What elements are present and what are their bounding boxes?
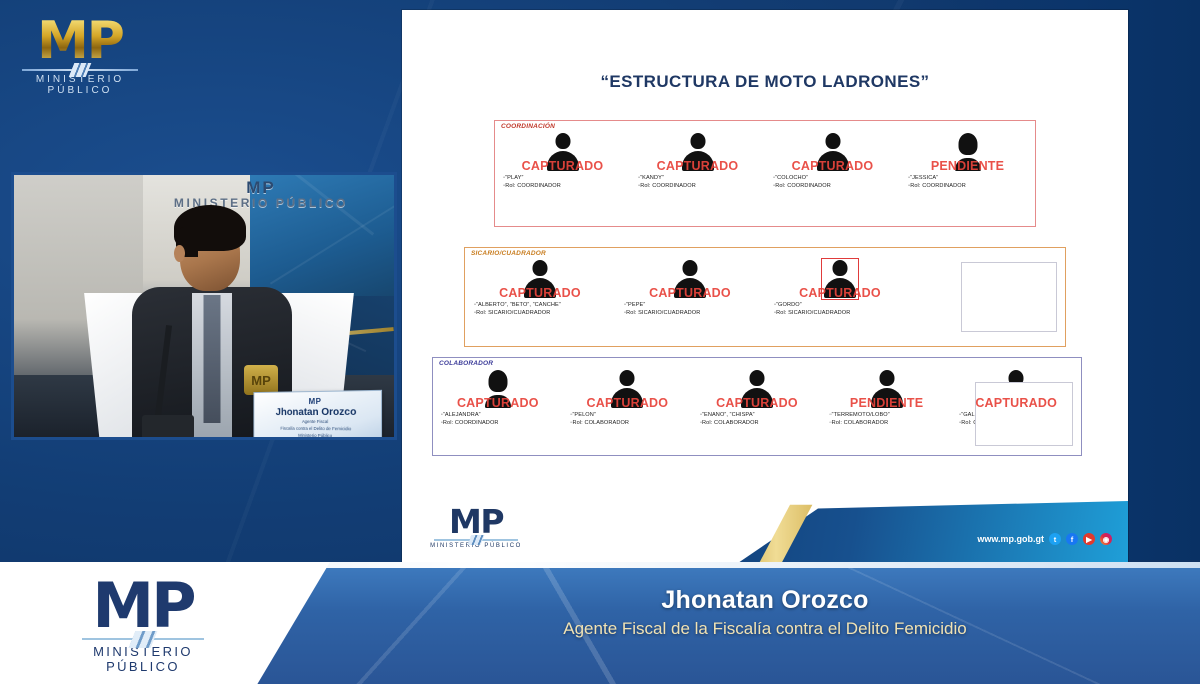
org-node: CAPTURADO “GORDO” Rol: SICARIO/CUADRADOR (765, 260, 915, 344)
nameplate-mp-logo: MP (309, 397, 322, 406)
org-node: CAPTURADO “COLOCHO” Rol: COORDINADOR (765, 133, 900, 224)
nameplate-role-line1: Agente Fiscal (302, 419, 328, 425)
nameplate-role-line2: Fiscalía contra el Delito de Femicidio (280, 426, 351, 432)
node-role: Rol: SICARIO/CUADRADOR (474, 309, 561, 317)
node-meta: “GORDO” Rol: SICARIO/CUADRADOR (774, 301, 850, 318)
section-sicario-cuadrador: SICARIO/CUADRADOR CAPTURADO “ALBERTO”, “… (464, 247, 1066, 347)
desk-nameplate: MP Jhonatan Orozco Agente Fiscal Fiscalí… (253, 390, 382, 440)
mp-logo-subtitle: MINISTERIO PÚBLICO (12, 74, 148, 96)
speaker-vest-mp-badge (244, 365, 278, 395)
speaker-hair (174, 205, 246, 251)
org-node: CAPTURADO “ALEJANDRA” Rol: COORDINADOR (433, 370, 563, 453)
nameplate-name: Jhonatan Orozco (276, 407, 357, 418)
node-meta: “PLAY” Rol: COORDINADOR (503, 174, 561, 191)
node-meta: “ALEJANDRA” Rol: COORDINADOR (441, 411, 499, 428)
org-node: CAPTURADO “PLAY” Rol: COORDINADOR (495, 133, 630, 224)
node-role: Rol: COLABORADOR (700, 419, 759, 427)
node-meta: “PELON” Rol: COLABORADOR (570, 411, 629, 428)
backdrop-wall-logo-letters: MP (158, 179, 363, 196)
banner-logo-letters: MP (68, 578, 218, 634)
status-stamp: CAPTURADO (716, 396, 798, 410)
node-meta: “ALBERTO”, “BETO”, “CANCHE” Rol: SICARIO… (474, 301, 561, 318)
node-alias: “TERREMOTO/LOBO” (830, 411, 890, 419)
status-stamp: CAPTURADO (792, 159, 874, 173)
slide-footer-mp-logo: MP MINISTERIO PÚBLICO (426, 507, 526, 549)
node-alias: “ENANO”, “CHISPA” (700, 411, 759, 419)
status-stamp: CAPTURADO (587, 396, 669, 410)
status-stamp: CAPTURADO (975, 396, 1057, 410)
node-alias: “ALBERTO”, “BETO”, “CANCHE” (474, 301, 561, 309)
node-role: Rol: SICARIO/CUADRADOR (624, 309, 700, 317)
banner-mp-logo: MP MINISTERIO PÚBLICO (68, 578, 218, 674)
node-alias: “PLAY” (503, 174, 561, 182)
footer-website-and-social: www.mp.gob.gt t f ▶ ◉ (977, 533, 1112, 545)
node-role: Rol: COLABORADOR (570, 419, 629, 427)
twitter-icon[interactable]: t (1049, 533, 1061, 545)
mp-logo-top: MP MINISTERIO PÚBLICO (12, 18, 148, 96)
backdrop-wall-logo: MP MINISTERIO PÚBLICO (158, 179, 363, 210)
status-stamp: PENDIENTE (850, 396, 923, 410)
org-node: CAPTURADO “PEPE” Rol: SICARIO/CUADRADOR (615, 260, 765, 344)
org-node: CAPTURADO “PELON” Rol: COLABORADOR (563, 370, 693, 453)
status-stamp: CAPTURADO (649, 286, 731, 300)
node-role: Rol: COORDINADOR (503, 182, 561, 190)
node-meta: “ENANO”, “CHISPA” Rol: COLABORADOR (700, 411, 759, 428)
instagram-icon[interactable]: ◉ (1100, 533, 1112, 545)
status-stamp: CAPTURADO (657, 159, 739, 173)
node-meta: “TERREMOTO/LOBO” Rol: COLABORADOR (830, 411, 890, 428)
youtube-icon[interactable]: ▶ (1083, 533, 1095, 545)
node-role: Rol: COORDINADOR (638, 182, 696, 190)
speaker-ear (174, 245, 185, 262)
org-node: CAPTURADO “ENANO”, “CHISPA” Rol: COLABOR… (692, 370, 822, 453)
node-alias: “PELON” (570, 411, 629, 419)
node-meta: “COLOCHO” Rol: COORDINADOR (773, 174, 831, 191)
node-meta: “PEPE” Rol: SICARIO/CUADRADOR (624, 301, 700, 318)
node-alias: “GORDO” (774, 301, 850, 309)
empty-placeholder-box (975, 382, 1073, 446)
status-stamp: CAPTURADO (457, 396, 539, 410)
org-node: PENDIENTE “TERREMOTO/LOBO” Rol: COLABORA… (822, 370, 952, 453)
microphone-base (142, 415, 194, 439)
node-role: Rol: COORDINADOR (441, 419, 499, 427)
node-meta: “JESSICA” Rol: COORDINADOR (908, 174, 966, 191)
node-alias: “KANDY” (638, 174, 696, 182)
footer-logo-divider (434, 539, 518, 541)
speaker-name: Jhonatan Orozco (330, 586, 1200, 615)
status-stamp: CAPTURADO (799, 286, 881, 300)
section-coordinacion: COORDINACIÓN CAPTURADO “PLAY” Rol: COORD… (494, 120, 1036, 227)
node-role: Rol: COORDINADOR (908, 182, 966, 190)
nameplate-role-line3: Ministerio Público (298, 433, 332, 439)
org-node: CAPTURADO “KANDY” Rol: COORDINADOR (630, 133, 765, 224)
video-feed: MP MINISTERIO PÚBLICO MP Jhonatan Orozco… (11, 172, 397, 440)
lower-third-banner: MP MINISTERIO PÚBLICO Jhonatan Orozco Ag… (0, 562, 1200, 684)
node-alias: “ALEJANDRA” (441, 411, 499, 419)
mp-logo-divider (22, 69, 138, 71)
presentation-slide: “ESTRUCTURA DE MOTO LADRONES” COORDINACI… (402, 10, 1128, 563)
facebook-icon[interactable]: f (1066, 533, 1078, 545)
empty-placeholder-box (961, 262, 1057, 332)
speaker-role: Agente Fiscal de la Fiscalía contra el D… (330, 619, 1200, 639)
node-alias: “JESSICA” (908, 174, 966, 182)
slide-title: “ESTRUCTURA DE MOTO LADRONES” (402, 72, 1128, 92)
org-node: PENDIENTE “JESSICA” Rol: COORDINADOR (900, 133, 1035, 224)
status-stamp: CAPTURADO (522, 159, 604, 173)
website-url: www.mp.gob.gt (977, 534, 1044, 544)
banner-logo-subtitle: MINISTERIO PÚBLICO (68, 644, 218, 674)
speaker-tie (204, 295, 221, 423)
node-meta: “KANDY” Rol: COORDINADOR (638, 174, 696, 191)
banner-logo-divider (82, 638, 204, 641)
node-role: Rol: SICARIO/CUADRADOR (774, 309, 850, 317)
section-colaborador: COLABORADOR CAPTURADO “ALEJANDRA” Rol: C… (432, 357, 1082, 456)
node-alias: “COLOCHO” (773, 174, 831, 182)
footer-logo-letters: MP (426, 507, 526, 537)
slide-footer: MP MINISTERIO PÚBLICO www.mp.gob.gt t f … (402, 501, 1128, 563)
status-stamp: PENDIENTE (931, 159, 1004, 173)
status-stamp: CAPTURADO (499, 286, 581, 300)
section-label: COORDINACIÓN (501, 123, 555, 130)
section-label: COLABORADOR (439, 360, 493, 367)
banner-speaker-info: Jhonatan Orozco Agente Fiscal de la Fisc… (330, 586, 1200, 639)
node-alias: “PEPE” (624, 301, 700, 309)
mp-logo-letters: MP (12, 18, 148, 66)
section-label: SICARIO/CUADRADOR (471, 250, 546, 257)
node-role: Rol: COORDINADOR (773, 182, 831, 190)
footer-blue-swoosh (628, 501, 1128, 563)
node-row: CAPTURADO “PLAY” Rol: COORDINADOR CAPTUR… (495, 133, 1035, 224)
node-role: Rol: COLABORADOR (830, 419, 890, 427)
org-node: CAPTURADO “ALBERTO”, “BETO”, “CANCHE” Ro… (465, 260, 615, 344)
